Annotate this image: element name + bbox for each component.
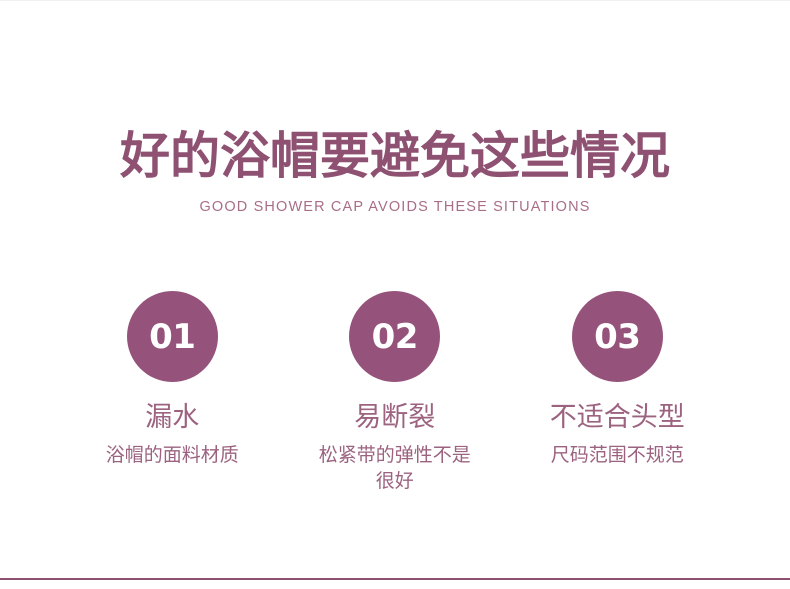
feature-description-02: 松紧带的弹性不是很好 [310,443,480,495]
feature-heading-02: 易断裂 [354,400,435,434]
badge-number-label: 03 [594,320,640,354]
feature-description-01: 浴帽的面料材质 [106,443,239,469]
number-badge-circle-03: 03 [572,291,663,382]
badge-number-label: 02 [372,320,418,354]
feature-item-03: 03 不适合头型 尺码范围不规范 [506,291,729,469]
bottom-divider-rule [0,578,790,580]
feature-heading-03: 不适合头型 [550,400,685,434]
page-title: 好的浴帽要避免这些情况 [0,126,790,186]
shower-cap-info-banner: 好的浴帽要避免这些情况 GOOD SHOWER CAP AVOIDS THESE… [0,0,790,589]
feature-item-01: 01 漏水 浴帽的面料材质 [61,291,284,469]
number-badge-circle-02: 02 [349,291,440,382]
number-badge-circle-01: 01 [127,291,218,382]
badge-number-label: 01 [149,320,195,354]
top-edge-hairline [0,0,790,1]
feature-heading-01: 漏水 [145,400,199,434]
page-subtitle: GOOD SHOWER CAP AVOIDS THESE SITUATIONS [0,198,790,216]
feature-items-row: 01 漏水 浴帽的面料材质 02 易断裂 松紧带的弹性不是很好 03 不适合头型… [0,291,790,495]
banner-header: 好的浴帽要避免这些情况 GOOD SHOWER CAP AVOIDS THESE… [0,126,790,216]
feature-description-03: 尺码范围不规范 [551,443,684,469]
feature-item-02: 02 易断裂 松紧带的弹性不是很好 [284,291,507,495]
